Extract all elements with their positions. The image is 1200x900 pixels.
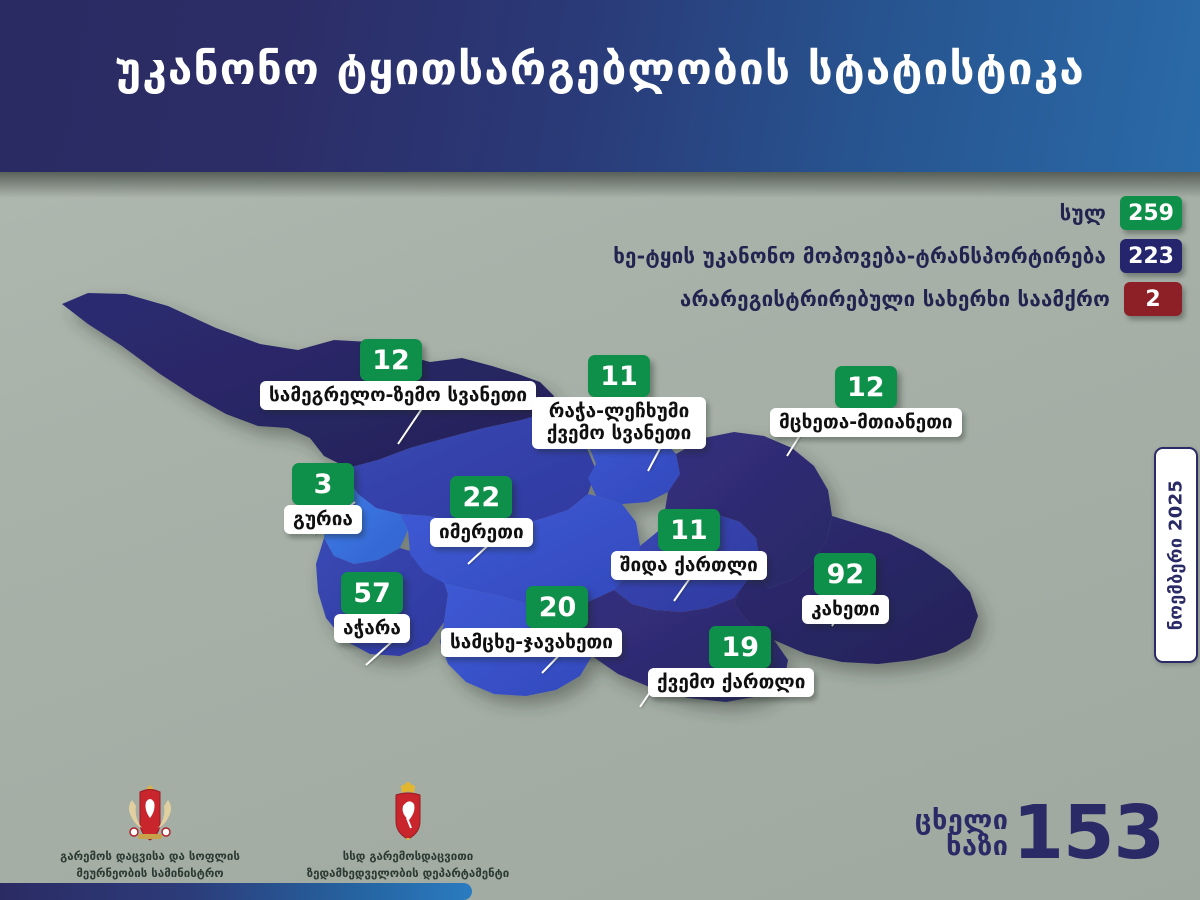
header-bar: უკანონო ტყითსარგებლობის სტატისტიკა: [0, 0, 1200, 172]
marker-label: სამცხე-ჯავახეთი: [441, 628, 622, 657]
legend-value-unregistered: 2: [1124, 282, 1182, 316]
marker-value: 22: [450, 476, 512, 518]
map-marker-samtskhe[interactable]: 20 სამცხე-ჯავახეთი: [441, 586, 622, 657]
marker-label: სამეგრელო-ზემო სვანეთი: [260, 381, 536, 410]
infographic-root: უკანონო ტყითსარგებლობის სტატისტიკა სულ 2…: [0, 0, 1200, 900]
map-marker-mtskheta[interactable]: 12 მცხეთა-მთიანეთი: [770, 366, 962, 437]
marker-label: მცხეთა-მთიანეთი: [770, 408, 962, 437]
legend-label-unregistered: არარეგისტრირებული სახერხი საამქრო: [680, 287, 1110, 311]
legend-label-transport: ხე-ტყის უკანონო მოპოვება-ტრანსპორტირება: [613, 244, 1106, 268]
marker-value: 12: [360, 339, 422, 381]
hotline-words: ცხელი ხაზი: [915, 808, 1009, 859]
map-marker-racha[interactable]: 11 რაჭა-ლეჩხუმი ქვემო სვანეთი: [539, 355, 699, 449]
marker-label: რაჭა-ლეჩხუმი ქვემო სვანეთი: [532, 397, 706, 449]
legend: სულ 259 ხე-ტყის უკანონო მოპოვება-ტრანსპო…: [322, 196, 1182, 325]
department-logo-block: სსდ გარემოსდაცვითი ზედამხედველობის დეპარ…: [288, 782, 528, 881]
map-svg: [48, 278, 1058, 748]
header-shadow: [0, 172, 1200, 198]
map-marker-kvemo-kartli[interactable]: 19 ქვემო ქართლი: [648, 626, 814, 697]
map-marker-guria[interactable]: 3 გურია: [284, 463, 362, 534]
marker-label: აჭარა: [334, 614, 410, 643]
hotline-block: ცხელი ხაზი 153: [915, 803, 1164, 864]
marker-value: 3: [292, 463, 354, 505]
marker-value: 11: [658, 509, 720, 551]
department-emblem-icon: [383, 782, 433, 844]
marker-value: 20: [526, 586, 588, 628]
map-marker-samegrelo[interactable]: 12 სამეგრელო-ზემო სვანეთი: [260, 339, 536, 410]
marker-value: 92: [814, 553, 876, 595]
page-title: უკანონო ტყითსარგებლობის სტატისტიკა: [0, 44, 1200, 95]
legend-row-transport: ხე-ტყის უკანონო მოპოვება-ტრანსპორტირება …: [322, 239, 1182, 273]
legend-value-transport: 223: [1120, 239, 1182, 273]
hotline-number: 153: [1013, 803, 1164, 864]
hotline-word-2: ხაზი: [915, 834, 1009, 860]
map-marker-imereti[interactable]: 22 იმერეთი: [430, 476, 533, 547]
ministry-caption: გარემოს დაცვისა და სოფლის მეურნეობის სამ…: [40, 848, 260, 881]
ministry-logo-block: გარემოს დაცვისა და სოფლის მეურნეობის სამ…: [40, 782, 260, 881]
marker-label: გურია: [284, 505, 362, 534]
legend-value-total: 259: [1120, 196, 1182, 230]
bottom-accent-bar: [0, 883, 472, 900]
legend-label-total: სულ: [1060, 201, 1106, 225]
department-caption: სსდ გარემოსდაცვითი ზედამხედველობის დეპარ…: [288, 848, 528, 881]
date-tab-label: ნოემბერი 2025: [1166, 480, 1187, 630]
marker-value: 57: [341, 572, 403, 614]
marker-label: ქვემო ქართლი: [648, 668, 814, 697]
hotline-word-1: ცხელი: [915, 808, 1009, 834]
map-marker-shida-kartli[interactable]: 11 შიდა ქართლი: [611, 509, 767, 580]
legend-row-total: სულ 259: [322, 196, 1182, 230]
marker-label: შიდა ქართლი: [611, 551, 767, 580]
marker-label: კახეთი: [802, 595, 889, 624]
marker-value: 11: [588, 355, 650, 397]
marker-value: 12: [835, 366, 897, 408]
marker-label: იმერეთი: [430, 518, 533, 547]
marker-value: 19: [709, 626, 771, 668]
georgia-map: [48, 278, 1058, 748]
map-marker-kakheti[interactable]: 92 კახეთი: [802, 553, 889, 624]
map-marker-adjara[interactable]: 57 აჭარა: [334, 572, 410, 643]
legend-row-unregistered: არარეგისტრირებული სახერხი საამქრო 2: [322, 282, 1182, 316]
georgia-coat-of-arms-icon: [122, 782, 178, 844]
date-tab: ნოემბერი 2025: [1154, 447, 1198, 663]
